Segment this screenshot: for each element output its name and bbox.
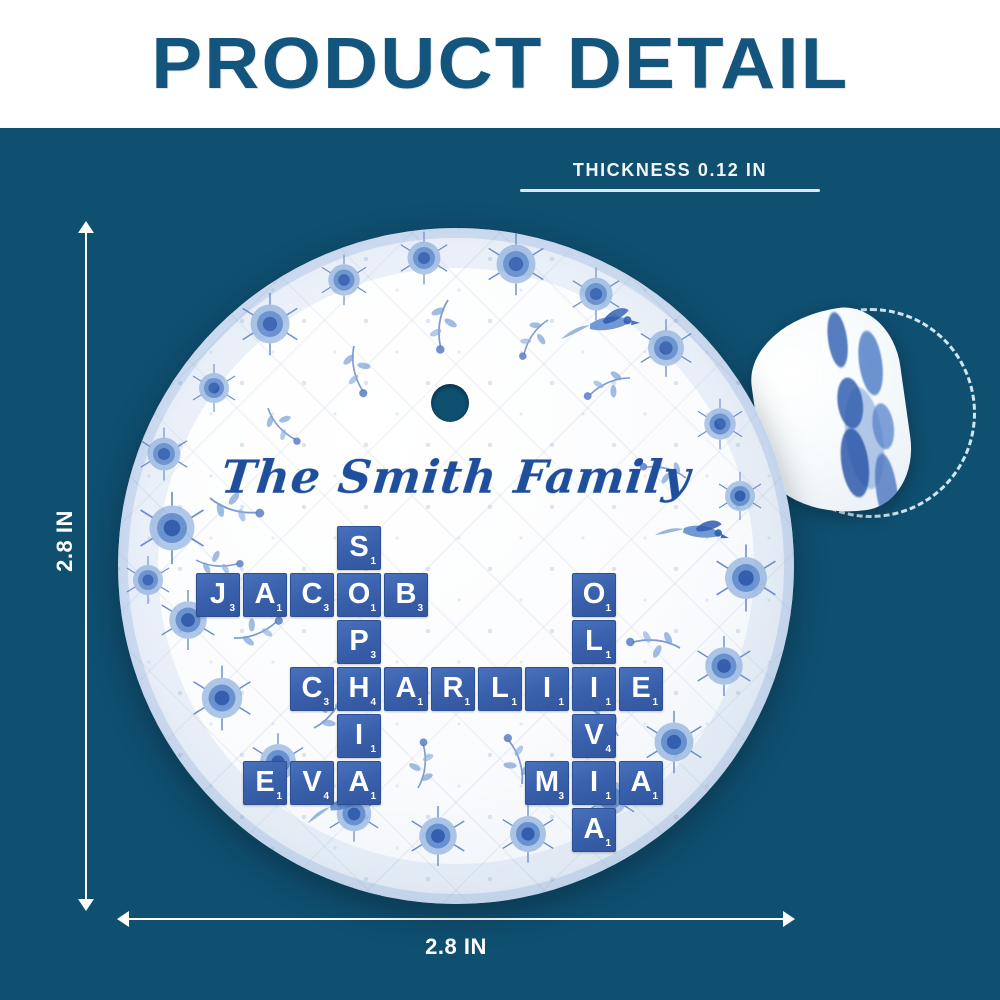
scrabble-tile: C3 [290, 573, 334, 617]
scrabble-tile: A1 [243, 573, 287, 617]
tile-point-value: 1 [605, 604, 611, 614]
hanging-hole [431, 384, 469, 422]
scrabble-tile: A1 [572, 808, 616, 852]
tile-point-value: 1 [417, 698, 423, 708]
tile-point-value: 4 [323, 792, 329, 802]
scrabble-tile: O1 [337, 573, 381, 617]
tile-point-value: 1 [605, 839, 611, 849]
tile-point-value: 1 [605, 651, 611, 661]
tile-point-value: 1 [464, 698, 470, 708]
tile-point-value: 3 [323, 698, 329, 708]
tile-point-value: 1 [511, 698, 517, 708]
tile-point-value: 1 [558, 698, 564, 708]
tile-point-value: 1 [605, 698, 611, 708]
scrabble-tile: L1 [572, 620, 616, 664]
tile-point-value: 1 [370, 745, 376, 755]
tile-point-value: 1 [605, 792, 611, 802]
tile-point-value: 4 [605, 745, 611, 755]
scrabble-tile: I1 [525, 667, 569, 711]
ornament-product-image: The Smith Family S1J3A1C3O1B3O1P3L1C3H4A… [118, 228, 794, 904]
scrabble-crossword-grid: S1J3A1C3O1B3O1P3L1C3H4A1R1L1I1I1E1I1V4E1… [196, 526, 716, 866]
tile-point-value: 4 [370, 698, 376, 708]
tile-point-value: 1 [370, 604, 376, 614]
scrabble-tile: I1 [337, 714, 381, 758]
scrabble-tile: A1 [337, 761, 381, 805]
header-band: PRODUCT DETAIL [0, 0, 1000, 128]
thickness-callout: THICKNESS 0.12 IN [520, 160, 820, 192]
height-dimension-line [85, 232, 87, 900]
scrabble-tile: E1 [619, 667, 663, 711]
arrow-up-icon [78, 221, 94, 233]
detail-panel: THICKNESS 0.12 IN 2.8 IN 2.8 IN [0, 128, 1000, 1000]
scrabble-tile: E1 [243, 761, 287, 805]
scrabble-tile: P3 [337, 620, 381, 664]
family-name-text: The Smith Family [118, 450, 794, 504]
arrow-left-icon [117, 911, 129, 927]
product-detail-page: PRODUCT DETAIL THICKNESS 0.12 IN 2.8 IN … [0, 0, 1000, 1000]
width-dimension-label: 2.8 IN [128, 934, 784, 960]
tile-point-value: 1 [652, 698, 658, 708]
scrabble-tile: L1 [478, 667, 522, 711]
scrabble-tile: C3 [290, 667, 334, 711]
tile-point-value: 1 [652, 792, 658, 802]
page-title: PRODUCT DETAIL [151, 28, 849, 100]
scrabble-tile: V4 [572, 714, 616, 758]
height-dimension-label: 2.8 IN [52, 510, 78, 572]
tile-point-value: 1 [276, 604, 282, 614]
tile-point-value: 1 [370, 792, 376, 802]
scrabble-tile: A1 [619, 761, 663, 805]
thickness-underline [520, 189, 820, 192]
scrabble-tile: I1 [572, 761, 616, 805]
scrabble-tile: S1 [337, 526, 381, 570]
scrabble-tile: M3 [525, 761, 569, 805]
scrabble-tile: J3 [196, 573, 240, 617]
tile-point-value: 3 [229, 604, 235, 614]
scrabble-tile: V4 [290, 761, 334, 805]
arrow-down-icon [78, 899, 94, 911]
width-dimension-line [128, 918, 784, 920]
scrabble-tile: A1 [384, 667, 428, 711]
scrabble-tile: I1 [572, 667, 616, 711]
scrabble-tile: H4 [337, 667, 381, 711]
arrow-right-icon [783, 911, 795, 927]
thickness-label: THICKNESS 0.12 IN [520, 160, 820, 181]
scrabble-tile: R1 [431, 667, 475, 711]
tile-point-value: 1 [370, 557, 376, 567]
tile-point-value: 3 [558, 792, 564, 802]
scrabble-tile: O1 [572, 573, 616, 617]
tile-point-value: 1 [276, 792, 282, 802]
tile-point-value: 3 [417, 604, 423, 614]
scrabble-tile: B3 [384, 573, 428, 617]
tile-point-value: 3 [370, 651, 376, 661]
tile-point-value: 3 [323, 604, 329, 614]
